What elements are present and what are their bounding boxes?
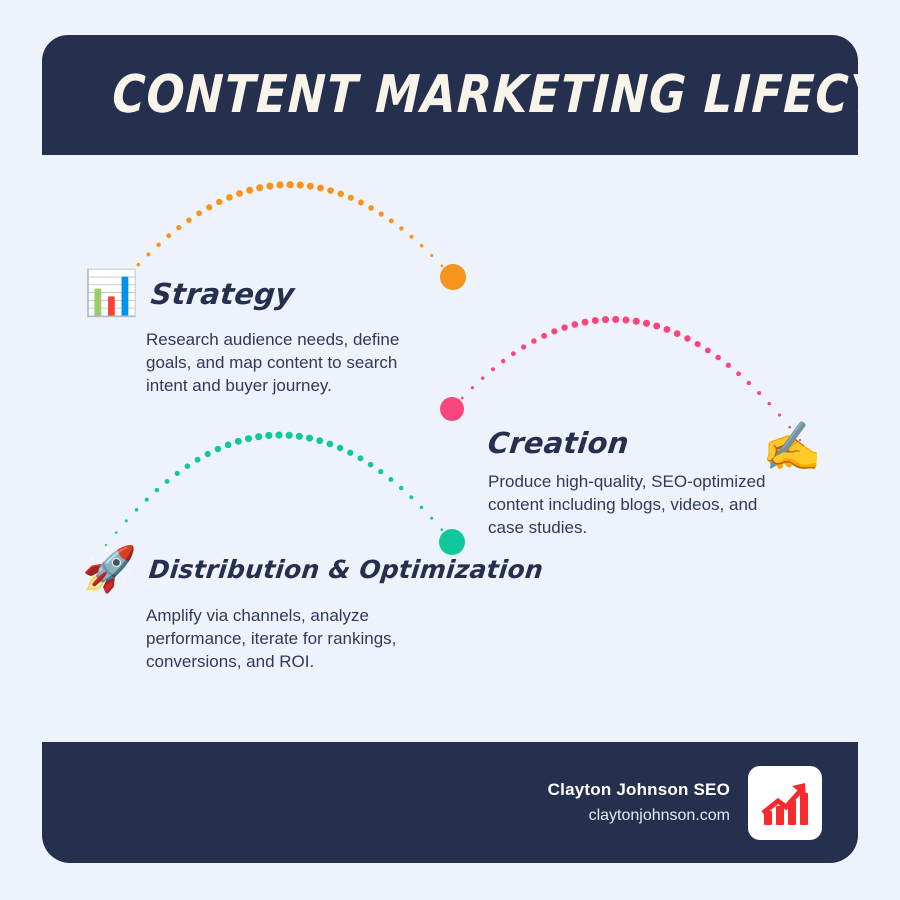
arc-strategy-dot (420, 244, 424, 248)
arc-distribution-dot (185, 463, 191, 469)
footer-text-block: Clayton Johnson SEO claytonjohnson.com (548, 779, 730, 827)
infographic-canvas: CONTENT MARKETING LIFECYCLE 📊 Strategy R… (0, 0, 900, 900)
arc-creation-dot (643, 320, 650, 327)
arc-creation-dot (715, 355, 721, 361)
arc-distribution-dot (389, 477, 394, 482)
arc-distribution-dot (255, 433, 262, 440)
arc-creation-dot (768, 402, 772, 406)
arc-creation-dot (531, 338, 537, 344)
arc-distribution-dot (265, 432, 272, 439)
stage-markers (439, 264, 466, 555)
arc-strategy-dot (137, 263, 141, 267)
arc-creation-dot (757, 391, 761, 395)
marker-distribution (439, 529, 465, 555)
arc-creation-dot (653, 322, 660, 329)
stage-distribution-title-text: Distribution & Optimization (147, 557, 544, 583)
arc-strategy-dot (166, 233, 171, 238)
arc-strategy-dot (297, 182, 304, 189)
arc-strategy-dot (307, 183, 314, 190)
arc-creation-dot (551, 328, 557, 334)
marker-strategy (440, 264, 466, 290)
stage-strategy-title: Strategy (151, 279, 294, 309)
arc-distribution-dot (235, 438, 242, 445)
stage-creation-title: Creation (488, 428, 629, 458)
arc-creation-dot (664, 326, 671, 333)
arc-creation-dot (571, 321, 578, 328)
arc-strategy-dot (216, 199, 222, 205)
arc-creation-dot (521, 344, 526, 349)
arc-strategy-dot (337, 191, 343, 197)
arc-creation-dot (592, 317, 599, 324)
arc-distribution-dot (296, 433, 303, 440)
stage-distribution: 🚀 Distribution & Optimization Amplify vi… (82, 548, 422, 673)
arc-creation-dot (726, 363, 731, 368)
arc-distribution-dot (451, 541, 453, 543)
page-title: CONTENT MARKETING LIFECYCLE (42, 69, 858, 121)
arc-creation-dot (695, 341, 701, 347)
arc-distribution-dot (215, 446, 221, 452)
arc-distribution-dot (115, 531, 118, 534)
stage-distribution-body: Amplify via channels, analyze performanc… (146, 604, 421, 673)
stage-creation-title-text: Creation (486, 428, 630, 458)
arc-strategy-dot (287, 181, 294, 188)
arc-strategy-dot (156, 242, 160, 246)
arc-strategy-dot (451, 276, 453, 278)
arc-distribution-dot (225, 441, 232, 448)
arc-creation-dot (684, 335, 690, 341)
arc-strategy-dot (389, 218, 394, 223)
arc-creation-dot (451, 408, 453, 410)
arc-strategy-dot (358, 200, 364, 206)
arc-creation-dot (481, 376, 485, 380)
arc-strategy-dot (276, 181, 283, 188)
arc-strategy-dot (246, 187, 253, 194)
arc-strategy-dot (348, 195, 354, 201)
arc-strategy-dot (226, 194, 233, 201)
arc-creation-dot (501, 359, 505, 363)
arc-distribution-dot (337, 445, 343, 451)
arc-strategy-dot (236, 190, 243, 197)
arc-distribution-dot (378, 469, 383, 474)
arc-strategy-dot (176, 225, 181, 230)
stage-creation: Creation Produce high-quality, SEO-optim… (488, 428, 788, 539)
arc-strategy-dot (317, 185, 324, 192)
arc-distribution-dot (135, 508, 139, 512)
arc-strategy-dot (186, 217, 192, 223)
writing-hand-icon: ✍️ (762, 423, 822, 471)
stage-strategy-title-text: Strategy (149, 279, 296, 309)
arc-strategy-dot (399, 226, 403, 230)
arc-strategy-dot (430, 254, 433, 257)
growth-chart-icon (759, 777, 811, 829)
arc-distribution-dot (399, 486, 403, 490)
arc-strategy-dot (266, 182, 273, 189)
footer-panel: Clayton Johnson SEO claytonjohnson.com (42, 742, 858, 863)
arc-strategy-dot (368, 205, 374, 211)
stage-creation-body: Produce high-quality, SEO-optimized cont… (488, 470, 773, 539)
arc-creation-dot (561, 324, 567, 330)
arc-creation-dot (511, 351, 516, 356)
arc-strategy-dot (206, 204, 212, 210)
arc-strategy-dot (379, 211, 384, 216)
arc-distribution-dot (327, 441, 334, 448)
arc-distribution-dot (430, 517, 433, 520)
arc-distribution-dot (245, 435, 252, 442)
stage-distribution-title: Distribution & Optimization (149, 557, 543, 583)
arc-strategy-dot (441, 265, 444, 268)
arc-distribution-dot (347, 450, 353, 456)
arc-distribution-dot (175, 471, 180, 476)
footer-content: Clayton Johnson SEO claytonjohnson.com (548, 742, 822, 863)
arc-creation-dot (471, 386, 474, 389)
growth-chart-logo (748, 766, 822, 840)
arc-distribution-dot (205, 451, 211, 457)
arc-strategy-dot (146, 252, 150, 256)
stage-strategy: 📊 Strategy Research audience needs, defi… (84, 272, 384, 397)
arc-distribution-dot (145, 498, 149, 502)
arc-distribution-dot (440, 528, 443, 531)
bar-chart-icon: 📊 (84, 272, 139, 316)
arc-distribution-dot (165, 479, 170, 484)
stage-strategy-head: 📊 Strategy (84, 272, 384, 316)
arc-distribution-dot (357, 455, 363, 461)
stage-creation-head: Creation (488, 428, 788, 458)
arc-creation-dot (736, 371, 741, 376)
arc-distribution-dot (368, 462, 374, 468)
arc-distribution-dot (195, 457, 201, 463)
arc-distribution-dot (286, 432, 293, 439)
stage-strategy-body: Research audience needs, define goals, a… (146, 328, 426, 397)
brand-name: Clayton Johnson SEO (548, 779, 730, 802)
arc-distribution-dot (155, 488, 159, 492)
arc-creation-dot (461, 397, 464, 400)
arc-creation-dot (778, 413, 781, 416)
arc-creation-dot (622, 316, 629, 323)
arc-creation-dot (747, 381, 751, 385)
arc-strategy-dot (327, 187, 334, 194)
arc-creation-dot (602, 316, 609, 323)
arc-strategy-dot (410, 235, 414, 239)
stage-distribution-head: 🚀 Distribution & Optimization (82, 548, 422, 592)
arc-distribution-dot (420, 506, 424, 510)
arc-strategy-dot (196, 210, 202, 216)
arc-distribution-dot (306, 435, 313, 442)
rocket-icon: 🚀 (82, 548, 137, 592)
arc-distribution-dot (275, 431, 282, 438)
arc-distribution-dot (316, 437, 323, 444)
arc-creation-dot (705, 347, 711, 353)
page-title-text: CONTENT MARKETING LIFECYCLE (111, 69, 858, 121)
arc-creation-dot (633, 318, 640, 325)
header-panel: CONTENT MARKETING LIFECYCLE (42, 35, 858, 155)
arc-creation-dot (491, 367, 495, 371)
arc-distribution-dot (125, 519, 128, 522)
website-url[interactable]: claytonjohnson.com (548, 805, 730, 827)
marker-creation (440, 397, 464, 421)
arc-creation-dot (582, 319, 589, 326)
arc-creation-dot (674, 330, 681, 337)
arc-creation-dot (612, 316, 619, 323)
arc-distribution-dot (409, 495, 413, 499)
arc-strategy-dot (256, 184, 263, 191)
arc-creation-dot (541, 333, 547, 339)
